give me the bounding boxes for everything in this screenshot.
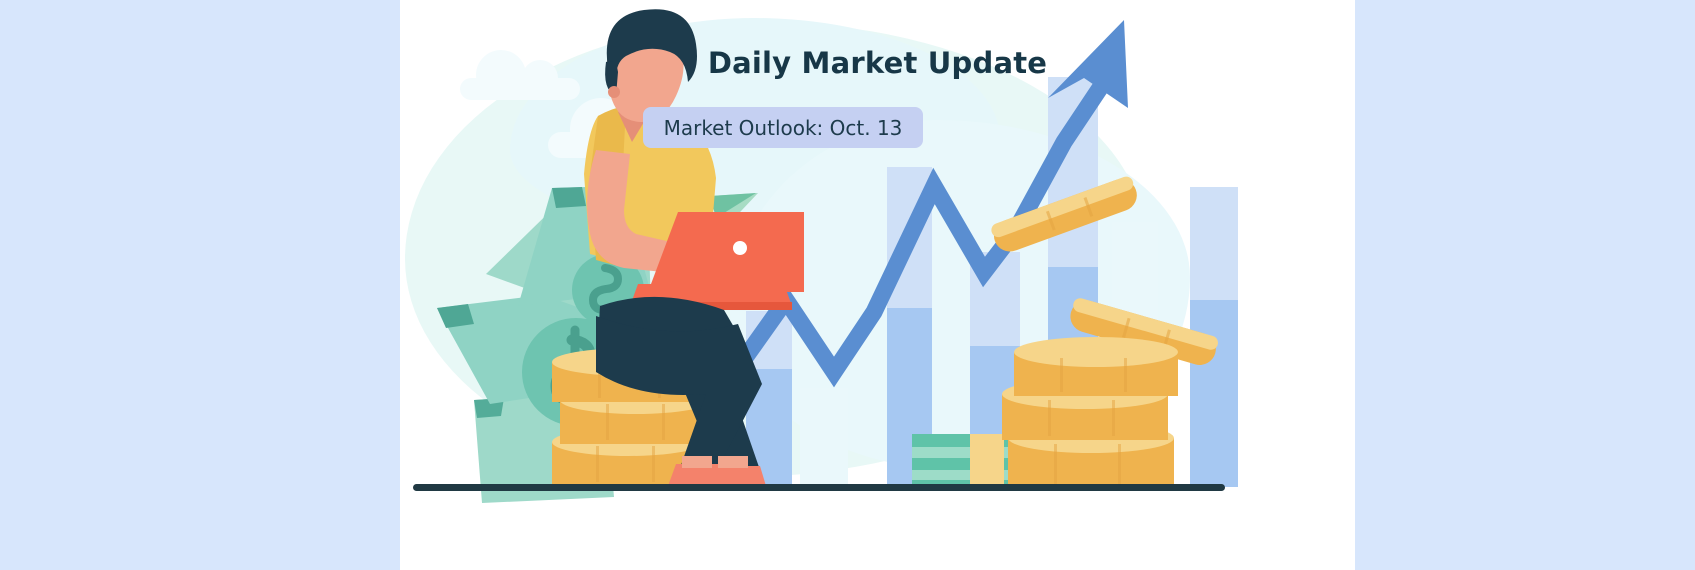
content-card: Daily Market Update Market Outlook: Oct.… <box>400 0 1355 570</box>
status-badge[interactable]: Market Outlook: Oct. 13 <box>643 107 923 148</box>
ground-line <box>413 484 1225 491</box>
coin-right-1-top <box>1014 337 1178 367</box>
page-title: Daily Market Update <box>400 46 1355 80</box>
flying-coin-upper <box>989 175 1141 256</box>
market-update-banner: Daily Market Update Market Outlook: Oct.… <box>0 0 1695 570</box>
